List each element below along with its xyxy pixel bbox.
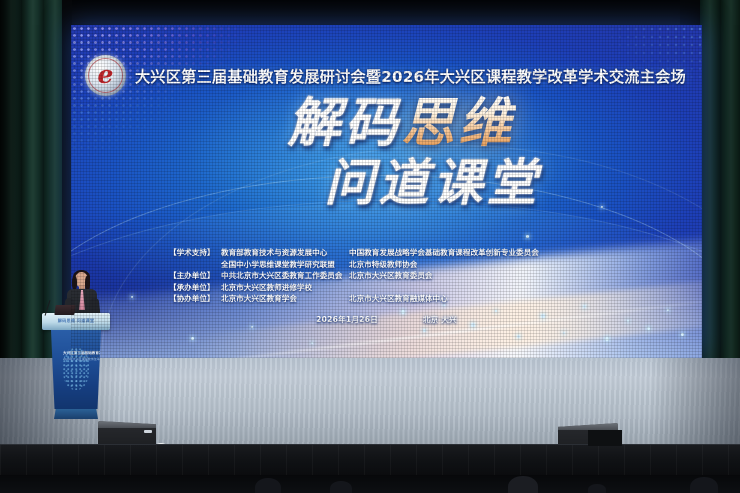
- credit-line: 【协办单位】 北京市大兴区教育学会 北京市大兴区教育融媒体中心: [71, 293, 702, 305]
- backstage-prop: [588, 430, 622, 446]
- audience-head: [330, 481, 352, 493]
- credit-org-b: 北京市特级教师协会: [349, 259, 417, 271]
- credits-block: 【学术支持】 教育部教育技术与资源发展中心 中国教育发展战略学会基础教育课程改革…: [71, 247, 702, 325]
- credit-org-b: 中国教育发展战略学会基础教育课程改革创新专业委员会: [349, 247, 539, 259]
- led-backdrop-screen: e 大兴区第三届基础教育发展研讨会暨2026年大兴区课程教学改革学术交流主会场 …: [71, 25, 702, 358]
- audience-row: [0, 475, 740, 493]
- bokeh-particle: [526, 235, 529, 238]
- credit-org-a: 教育部教育技术与资源发展中心: [221, 247, 349, 259]
- event-place: 北京 大兴: [423, 314, 457, 326]
- audience-head: [255, 478, 281, 493]
- credit-org-a: 北京市大兴区教师进修学校: [221, 282, 349, 294]
- credit-label: 【协办单位】: [169, 293, 221, 305]
- podium-base: [54, 409, 98, 419]
- proscenium-top-wall: [0, 0, 740, 24]
- bokeh-particle: [563, 332, 565, 334]
- audience-head: [588, 484, 606, 493]
- bokeh-particle: [517, 335, 520, 338]
- audience-head: [508, 476, 538, 493]
- credit-line: 【承办单位】 北京市大兴区教师进修学校: [71, 282, 702, 294]
- credit-org-b: 北京市大兴区教育委员会: [349, 270, 433, 282]
- credit-org-a: 北京市大兴区教育学会: [221, 293, 349, 305]
- podium-panel-title: 大兴区第三届基础教育发展研讨会: [63, 351, 107, 356]
- credit-line: 【主办单位】 中共北京市大兴区委教育工作委员会 北京市大兴区教育委员会: [71, 270, 702, 282]
- audience-head: [690, 477, 718, 493]
- halftone-dots-top-left-blue: [71, 25, 281, 175]
- stage-floor-shadow-right: [650, 358, 740, 445]
- emblem-letter: e: [98, 62, 114, 87]
- event-date: 2026年1月26日: [316, 315, 378, 324]
- credit-org-b: 北京市大兴区教育融媒体中心: [349, 293, 448, 305]
- credit-label: 【主办单位】: [169, 270, 221, 282]
- credit-label: 【学术支持】: [169, 247, 221, 259]
- podium-panel-subtitle: 2026年大兴区课程教学改革学术交流主会场: [63, 357, 107, 361]
- conference-emblem-icon: e: [85, 55, 126, 96]
- bokeh-particle: [681, 333, 684, 336]
- bokeh-particle: [251, 326, 253, 328]
- credit-label: 【承办单位】: [169, 282, 221, 294]
- banner-title: 大兴区第三届基础教育发展研讨会暨2026年大兴区课程教学改革学术交流主会场: [135, 65, 686, 87]
- bokeh-particle: [311, 342, 313, 344]
- event-datetime-row: 2026年1月26日 北京 大兴: [71, 314, 702, 326]
- credit-line: 【学术支持】 教育部教育技术与资源发展中心 中国教育发展战略学会基础教育课程改革…: [71, 247, 702, 259]
- podium-front-panel: 大兴区第三届基础教育发展研讨会 2026年大兴区课程教学改革学术交流主会场 20…: [51, 330, 101, 409]
- bokeh-particle: [423, 329, 426, 332]
- bokeh-particle: [601, 206, 603, 208]
- podium: 解码思维 问道课堂 大兴区第三届基础教育发展研讨会 2026年大兴区课程教学改革…: [42, 313, 110, 425]
- bokeh-particle: [191, 337, 194, 340]
- credit-org-a: 中共北京市大兴区委教育工作委员会: [221, 270, 349, 282]
- conference-stage-photo: e 大兴区第三届基础教育发展研讨会暨2026年大兴区课程教学改革学术交流主会场 …: [0, 0, 740, 493]
- monitor-indicator-icon: [144, 430, 152, 433]
- bokeh-particle: [647, 327, 650, 330]
- bokeh-particle: [605, 337, 609, 341]
- stage-front-edge: [0, 444, 740, 478]
- credit-org-a: 全国中小学思维课堂教学研究联盟: [221, 259, 349, 271]
- screen-header: e 大兴区第三届基础教育发展研讨会暨2026年大兴区课程教学改革学术交流主会场: [85, 55, 686, 96]
- stage-curtain-right: [700, 0, 740, 395]
- credit-line: 全国中小学思维课堂教学研究联盟 北京市特级教师协会: [71, 259, 702, 271]
